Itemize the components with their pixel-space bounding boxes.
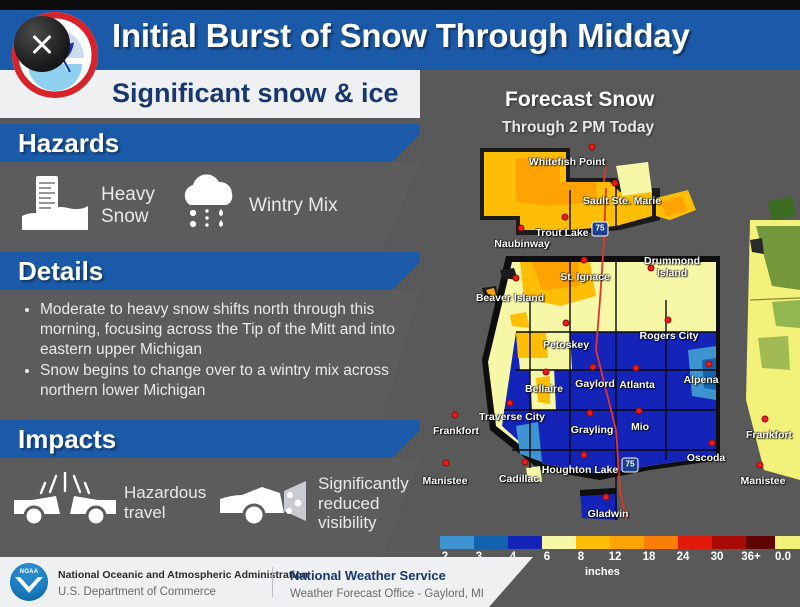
map-city-label: Oscoda <box>687 452 726 464</box>
noaa-logo-word: NOAA <box>19 569 39 575</box>
legend-color-swatches <box>440 536 780 549</box>
legend-swatch-4 <box>508 536 542 549</box>
map-city-dot <box>603 494 610 501</box>
footer-office-line2: Weather Forecast Office - Gaylord, MI <box>290 588 484 600</box>
map-city-label: Sault Ste. Marie <box>583 195 661 207</box>
legend-swatch-12 <box>610 536 644 549</box>
map-city-label: Whitefish Point <box>529 156 605 168</box>
legend-tick: 36+ <box>741 551 761 563</box>
map-city-label: Gaylord <box>575 378 615 390</box>
impact-reduced-visibility: Significantly reduced visibility <box>218 473 409 534</box>
list-item: Moderate to heavy snow shifts north thro… <box>40 300 414 359</box>
legend-swatch-24 <box>678 536 712 549</box>
map-city-label: Houghton Lake <box>542 464 618 476</box>
impact-reduced-visibility-label: Significantly reduced visibility <box>318 474 409 533</box>
map-city-dot <box>522 459 529 466</box>
map-city-label: Petoskey <box>543 339 589 351</box>
map-city-label: St. Ignace <box>560 271 610 283</box>
map-city-dot <box>581 257 588 264</box>
map-city-label: Naubinway <box>494 238 549 250</box>
ice-legend-partial: 0.0 <box>775 536 800 563</box>
legend-swatch-6 <box>542 536 576 549</box>
map-city-dot <box>612 180 619 187</box>
map-city-label: Frankfort <box>433 425 479 437</box>
map-city-label: Traverse City <box>479 411 545 423</box>
heavy-snow-icon <box>20 172 92 239</box>
map-city-label: Bellaire <box>525 383 563 395</box>
interstate-shield-icon: 75 <box>592 222 609 237</box>
weather-graphic: Initial Burst of Snow Through Midday Sig… <box>0 0 800 607</box>
ice-legend-swatch <box>775 536 800 549</box>
section-header-details: Details <box>0 252 430 290</box>
map-city-label: Rogers City <box>640 330 699 342</box>
map-city-label: Beaver Island <box>476 292 544 304</box>
page-title: Initial Burst of Snow Through Midday <box>112 17 690 55</box>
legend-tick: 30 <box>711 551 724 563</box>
section-header-hazards: Hazards <box>0 124 430 162</box>
legend-tick: 8 <box>578 551 584 563</box>
map-city-label: Manistee <box>423 475 468 487</box>
map-city-label: Mio <box>631 421 649 433</box>
legend-tick: 24 <box>677 551 690 563</box>
hazards-heading: Hazards <box>18 128 119 159</box>
wintry-mix-icon <box>178 173 240 238</box>
details-bullet-list: Moderate to heavy snow shifts north thro… <box>24 300 414 403</box>
legend-tick: 18 <box>643 551 656 563</box>
close-icon[interactable] <box>14 16 70 72</box>
map-city-dot <box>665 317 672 324</box>
noaa-logo: NOAA <box>10 563 48 601</box>
map-subtitle: Through 2 PM Today <box>502 119 654 137</box>
details-heading: Details <box>18 256 103 287</box>
map-city-label: Grayling <box>571 424 614 436</box>
hazard-wintry-mix-label: Wintry Mix <box>249 195 338 216</box>
map-city-label: Gladwin <box>588 508 629 520</box>
list-item: Snow begins to change over to a wintry m… <box>40 361 414 401</box>
map-city-dot <box>633 365 640 372</box>
map-city-label: Frankfort <box>746 429 792 441</box>
map-city-dot <box>589 144 596 151</box>
map-city-dot <box>706 361 713 368</box>
map-city-dot <box>757 462 764 469</box>
map-title: Forecast Snow <box>505 88 654 112</box>
legend-swatch-3 <box>474 536 508 549</box>
map-city-dot <box>762 416 769 423</box>
impact-hazardous-travel: Hazardous travel <box>12 472 206 533</box>
map-city-dot <box>443 460 450 467</box>
hazard-wintry-mix: Wintry Mix <box>178 173 338 238</box>
footer-agency-line1: National Oceanic and Atmospheric Adminis… <box>58 569 308 581</box>
footer-office: National Weather Service Weather Forecas… <box>290 568 484 600</box>
hazard-heavy-snow: Heavy Snow <box>20 172 155 239</box>
map-city-label: Alpena <box>683 374 718 386</box>
map-city-label: Drummond Island <box>644 255 700 279</box>
top-black-bar <box>0 0 800 10</box>
map-city-dot <box>507 400 514 407</box>
legend-swatch-8 <box>576 536 610 549</box>
legend-swatch-18 <box>644 536 678 549</box>
legend-swatch-30 <box>712 536 746 549</box>
map-city-dot <box>563 320 570 327</box>
car-crash-icon <box>12 472 118 533</box>
impacts-heading: Impacts <box>18 424 116 455</box>
section-header-impacts: Impacts <box>0 420 430 458</box>
map-city-dot <box>513 275 520 282</box>
map-city-dot <box>590 364 597 371</box>
car-snow-spray-icon <box>218 473 312 534</box>
map-city-label: Atlanta <box>619 379 655 391</box>
map-city-dot <box>581 452 588 459</box>
interstate-shield-icon: 75 <box>622 458 639 473</box>
map-city-label: Cadillac <box>499 473 539 485</box>
ice-legend-tick: 0.0 <box>775 551 800 563</box>
footer-agency-line2: U.S. Department of Commerce <box>58 586 308 598</box>
map-city-dot <box>562 214 569 221</box>
map-city-dot <box>587 410 594 417</box>
legend-unit-label: inches <box>585 566 620 578</box>
footer-divider <box>272 567 273 597</box>
impact-hazardous-travel-label: Hazardous travel <box>124 483 206 522</box>
legend-tick: 6 <box>544 551 550 563</box>
map-city-dot <box>452 412 459 419</box>
page-subtitle: Significant snow & ice <box>112 78 399 109</box>
legend-swatch-2 <box>440 536 474 549</box>
map-city-dot <box>543 369 550 376</box>
footer-agency: National Oceanic and Atmospheric Adminis… <box>58 569 308 598</box>
hazard-heavy-snow-label: Heavy Snow <box>101 184 155 227</box>
legend-tick: 12 <box>609 551 622 563</box>
map-city-dot <box>518 225 525 232</box>
map-city-dot <box>636 408 643 415</box>
footer-bar: NOAA National Oceanic and Atmospheric Ad… <box>0 557 533 607</box>
map-city-dot <box>709 440 716 447</box>
footer-office-line1: National Weather Service <box>290 568 484 583</box>
map-city-label: Manistee <box>741 475 786 487</box>
